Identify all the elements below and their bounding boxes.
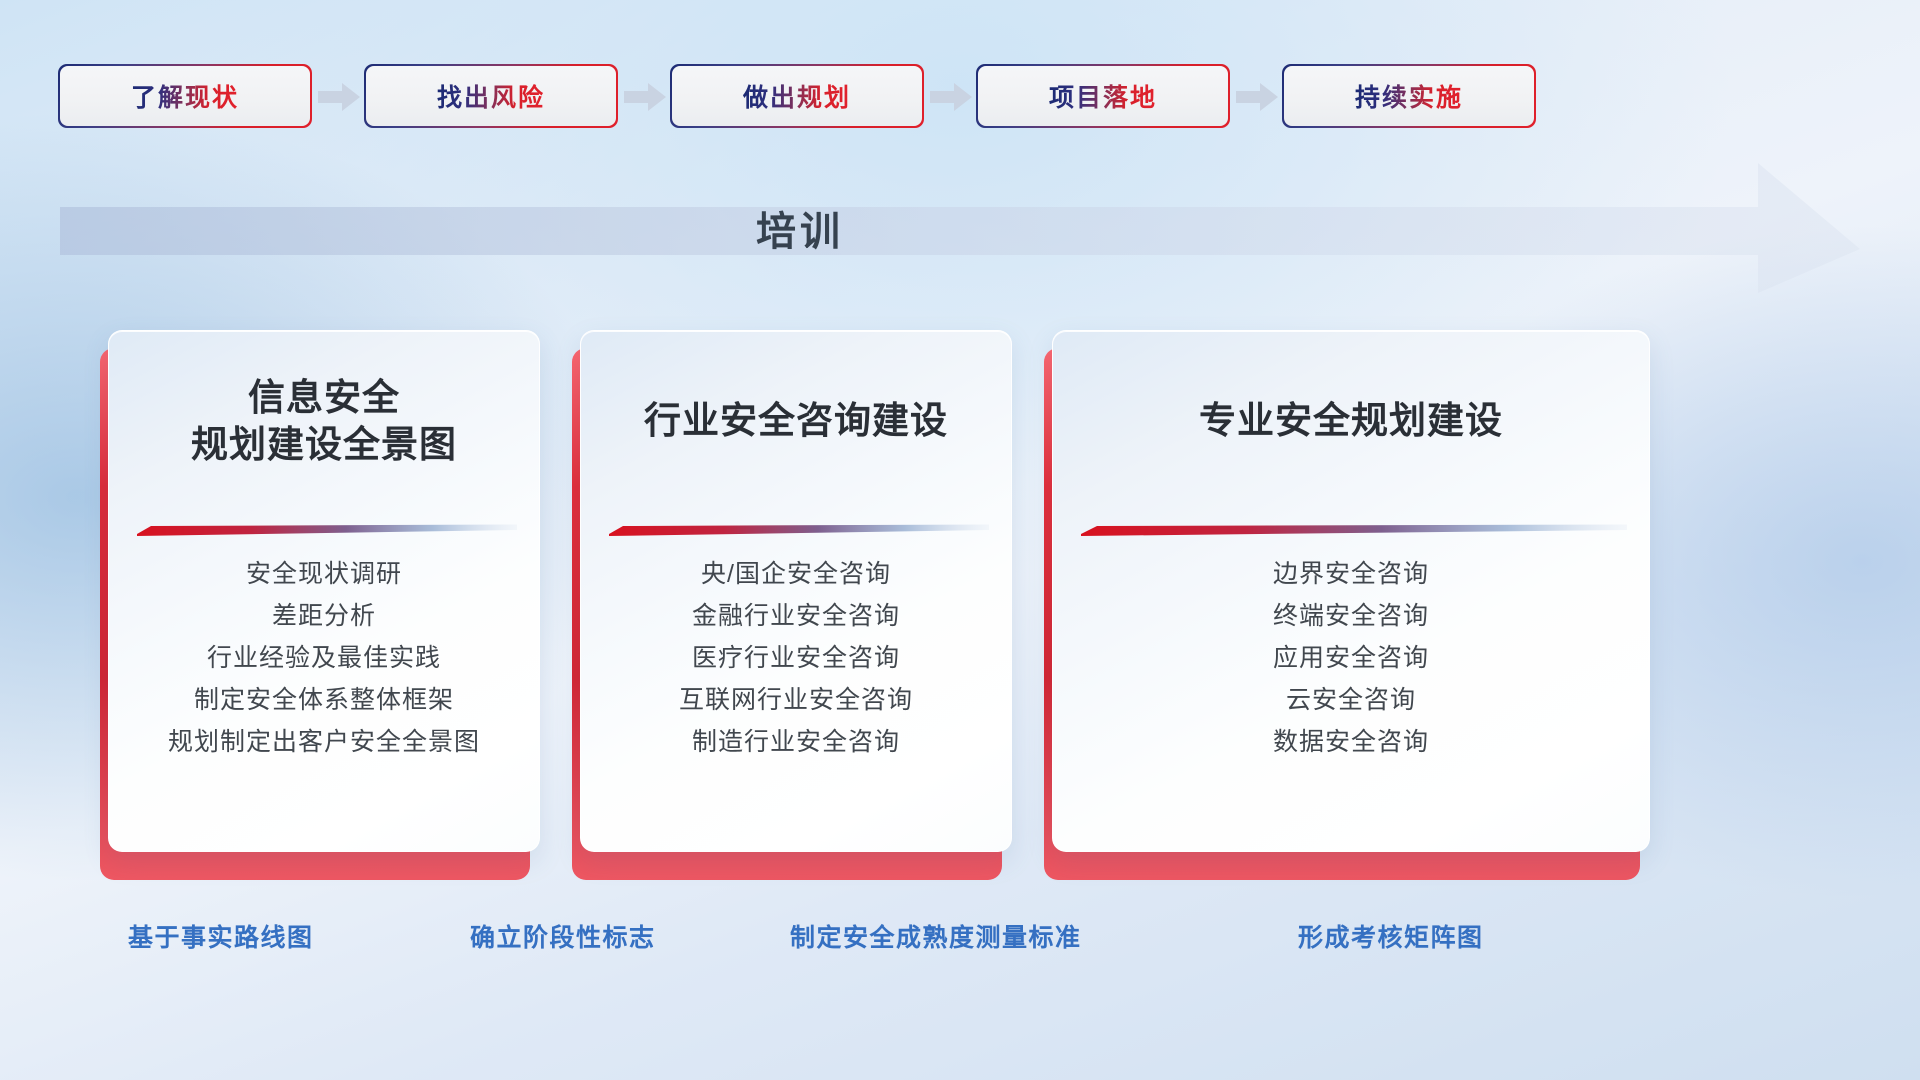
step-chip-label: 项目落地 [1049,78,1157,114]
card-1[interactable]: 信息安全 规划建设全景图 [108,330,540,852]
step-chip-4[interactable]: 项目落地 [978,66,1228,126]
cards-row: 信息安全 规划建设全景图 [0,330,1920,890]
list-item: 制造行业安全咨询 [692,721,900,763]
step-chip-1[interactable]: 了解现状 [60,66,310,126]
list-item: 规划制定出客户安全全景图 [168,721,480,763]
slide-canvas: 了解现状 找出风险 做出规划 项目落地 持续实施 [0,0,1920,1080]
card-divider [1081,523,1627,537]
card-3[interactable]: 专业安全规划建设 [1052,330,1650,852]
caption-3: 制定安全成熟度测量标准 [790,918,1082,954]
chevron-right-arrow-icon [1228,66,1284,126]
card-list: 央/国企安全咨询 金融行业安全咨询 医疗行业安全咨询 互联网行业安全咨询 制造行… [581,553,1011,763]
card-title: 信息安全 规划建设全景图 [109,331,539,511]
card-2[interactable]: 行业安全咨询建设 [580,330,1012,852]
caption-4: 形成考核矩阵图 [1298,918,1484,954]
list-item: 安全现状调研 [246,553,402,595]
card-title: 行业安全咨询建设 [581,331,1011,511]
card-list: 边界安全咨询 终端安全咨询 应用安全咨询 云安全咨询 数据安全咨询 [1053,553,1649,763]
list-item: 终端安全咨询 [1273,595,1429,637]
chevron-right-arrow-icon [310,66,366,126]
card-title-line1: 行业安全咨询建设 [644,397,948,444]
list-item: 边界安全咨询 [1273,553,1429,595]
card-title-line2: 规划建设全景图 [191,421,457,468]
list-item: 云安全咨询 [1286,679,1416,721]
card-title-line1: 专业安全规划建设 [1199,397,1503,444]
step-chip-3[interactable]: 做出规划 [672,66,922,126]
card-wrapper-1: 信息安全 规划建设全景图 [108,330,638,890]
training-banner: 培训 [60,163,1860,293]
step-chip-2[interactable]: 找出风险 [366,66,616,126]
captions-row: 基于事实路线图 确立阶段性标志 制定安全成熟度测量标准 形成考核矩阵图 [0,918,1920,968]
card-wrapper-3: 专业安全规划建设 [1052,330,1582,890]
step-chip-label: 了解现状 [131,78,239,114]
caption-1: 基于事实路线图 [128,918,314,954]
list-item: 央/国企安全咨询 [701,553,891,595]
card-list: 安全现状调研 差距分析 行业经验及最佳实践 制定安全体系整体框架 规划制定出客户… [109,553,539,763]
list-item: 医疗行业安全咨询 [692,637,900,679]
list-item: 金融行业安全咨询 [692,595,900,637]
card-wrapper-2: 行业安全咨询建设 [580,330,1110,890]
list-item: 行业经验及最佳实践 [207,637,441,679]
chevron-right-arrow-icon [922,66,978,126]
step-chip-5[interactable]: 持续实施 [1284,66,1534,126]
card-title: 专业安全规划建设 [1053,331,1649,511]
list-item: 差距分析 [272,595,376,637]
banner-title: 培训 [60,163,1540,293]
chevron-right-arrow-icon [616,66,672,126]
step-chip-label: 找出风险 [437,78,545,114]
card-divider [609,523,989,537]
caption-2: 确立阶段性标志 [470,918,656,954]
card-divider [137,523,517,537]
process-steps-row: 了解现状 找出风险 做出规划 项目落地 持续实施 [60,64,1860,128]
list-item: 互联网行业安全咨询 [679,679,913,721]
list-item: 制定安全体系整体框架 [194,679,454,721]
card-title-line1: 信息安全 [248,374,400,421]
step-chip-label: 持续实施 [1355,78,1463,114]
step-chip-label: 做出规划 [743,78,851,114]
list-item: 应用安全咨询 [1273,637,1429,679]
list-item: 数据安全咨询 [1273,721,1429,763]
